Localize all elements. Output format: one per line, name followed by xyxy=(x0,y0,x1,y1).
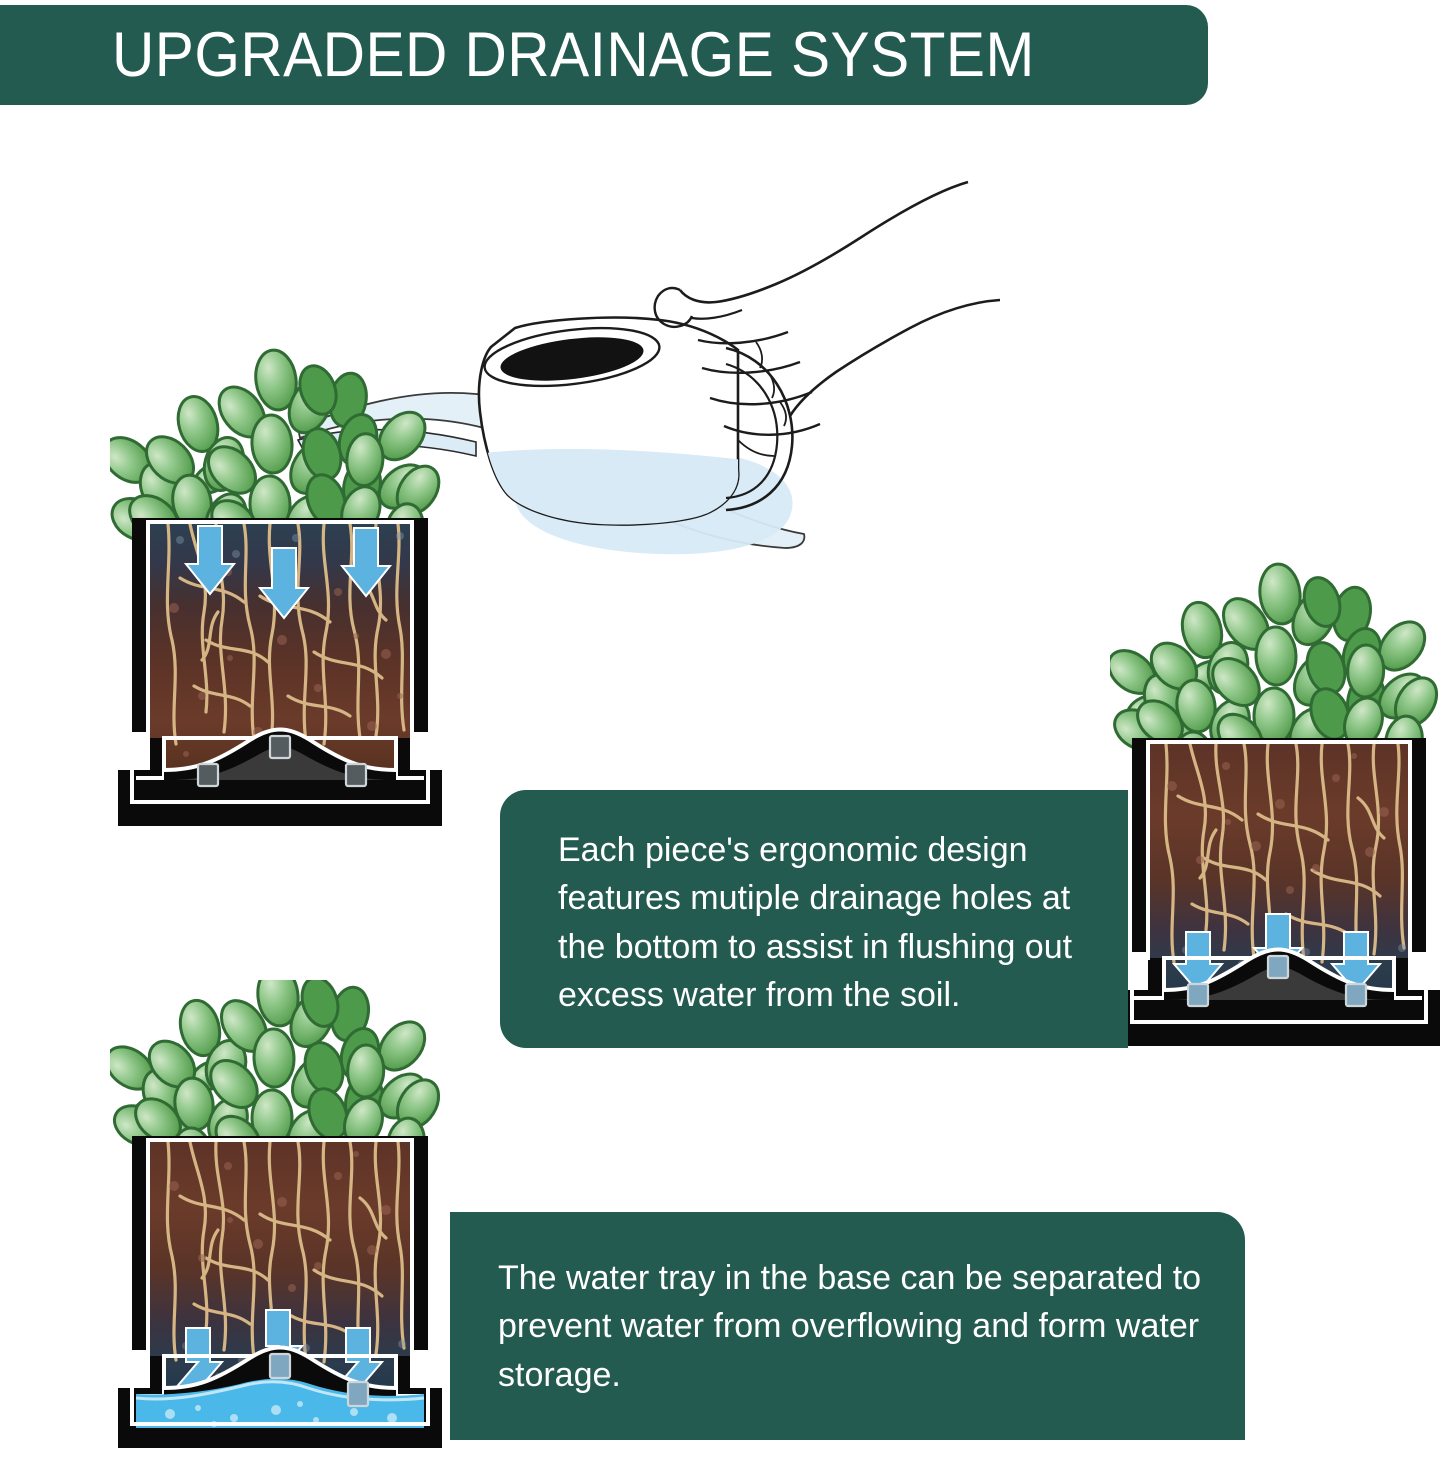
callout-drainage-holes: Each piece's ergonomic design features m… xyxy=(500,790,1128,1048)
page-title: UPGRADED DRAINAGE SYSTEM xyxy=(112,24,1035,87)
header-banner: UPGRADED DRAINAGE SYSTEM xyxy=(0,5,1208,105)
planter-cross-section-watering xyxy=(110,340,450,850)
planter-cross-section-draining xyxy=(1110,560,1445,1070)
finger-crease-2 xyxy=(768,372,774,398)
arm-top-line xyxy=(680,182,968,302)
callout-drainage-text: Each piece's ergonomic design features m… xyxy=(558,826,1110,1019)
thumb-knuckle xyxy=(692,310,742,319)
finger-crease-3 xyxy=(780,402,786,426)
callout-water-tray: The water tray in the base can be separa… xyxy=(450,1212,1245,1440)
planter-cross-section-reservoir xyxy=(110,980,450,1470)
callout-tray-text: The water tray in the base can be separa… xyxy=(498,1254,1223,1399)
palm-crease xyxy=(738,440,774,456)
arm-bottom-line xyxy=(790,300,1000,416)
